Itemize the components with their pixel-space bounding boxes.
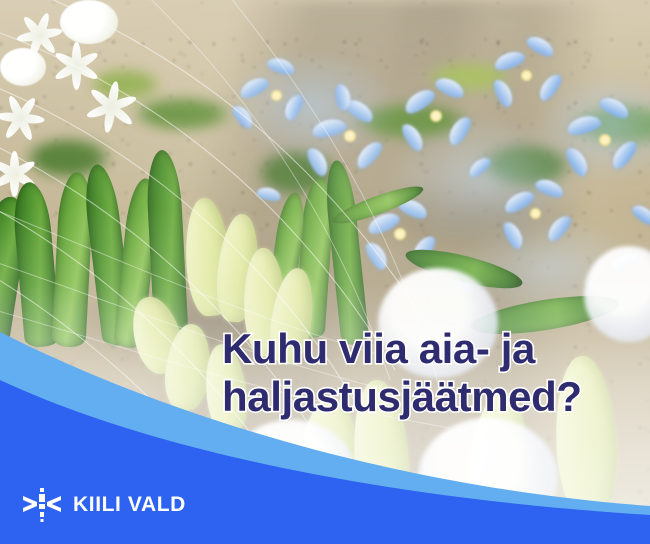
pale-bloom (226, 420, 356, 530)
background-photo (0, 0, 650, 544)
white-hyacinth-floret (80, 76, 142, 138)
kiili-vald-banner: Kuhu viia aia- ja haljastusjäätmed? (0, 0, 650, 544)
headline-line-1: Kuhu viia aia- ja (222, 325, 642, 373)
page-title: Kuhu viia aia- ja haljastusjäätmed? (222, 325, 642, 421)
kiili-vald-dragonfly-icon (22, 487, 62, 523)
pale-bloom (418, 418, 558, 538)
white-hyacinth-blur (60, 0, 118, 44)
white-hyacinth-floret (0, 92, 46, 144)
white-hyacinth-blur (0, 48, 46, 86)
kiili-vald-logo[interactable]: KIILI VALD (22, 487, 186, 523)
headline-line-2: haljastusjäätmed? (222, 373, 642, 421)
logo-text: KIILI VALD (73, 493, 186, 517)
pale-bloom (58, 400, 178, 500)
